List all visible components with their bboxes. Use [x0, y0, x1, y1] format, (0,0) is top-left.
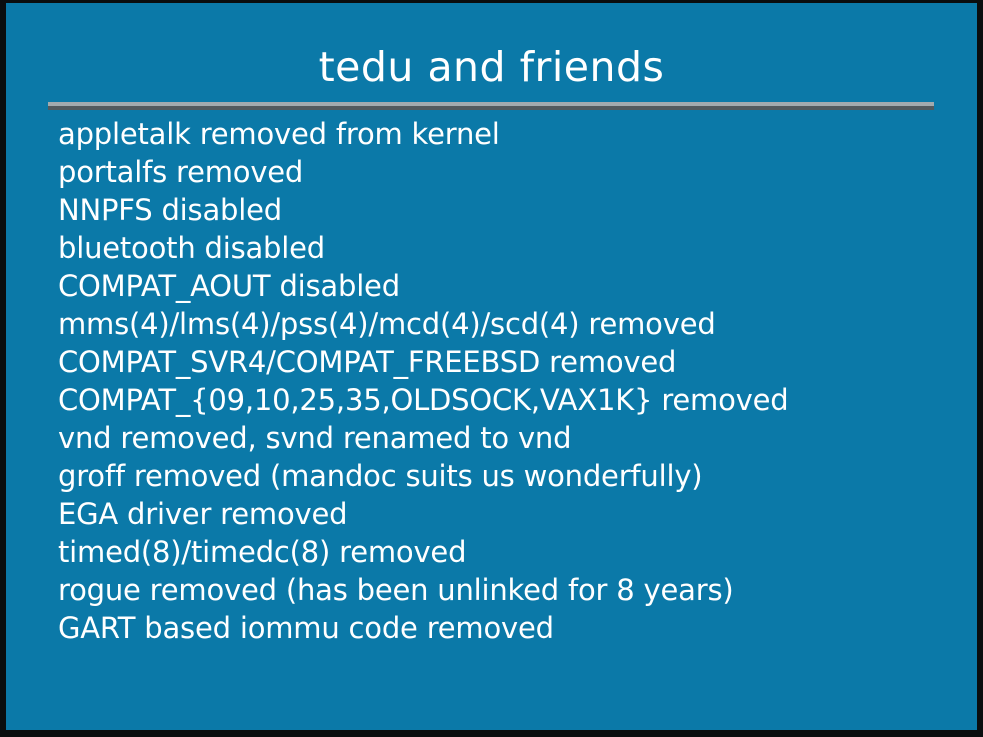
list-item: mms(4)/lms(4)/pss(4)/mcd(4)/scd(4) remov…	[58, 305, 957, 343]
list-item: appletalk removed from kernel	[58, 115, 957, 153]
list-item: COMPAT_SVR4/COMPAT_FREEBSD removed	[58, 343, 957, 381]
title-divider-rule	[48, 102, 934, 110]
list-item: rogue removed (has been unlinked for 8 y…	[58, 571, 957, 609]
presentation-slide: tedu and friends appletalk removed from …	[0, 0, 983, 737]
list-item: GART based iommu code removed	[58, 609, 957, 647]
list-item: timed(8)/timedc(8) removed	[58, 533, 957, 571]
list-item: portalfs removed	[58, 153, 957, 191]
list-item: COMPAT_{09,10,25,35,OLDSOCK,VAX1K} remov…	[58, 381, 957, 419]
list-item: EGA driver removed	[58, 495, 957, 533]
list-item: vnd removed, svnd renamed to vnd	[58, 419, 957, 457]
list-item: COMPAT_AOUT disabled	[58, 267, 957, 305]
list-item: groff removed (mandoc suits us wonderful…	[58, 457, 957, 495]
slide-bullet-list: appletalk removed from kernel portalfs r…	[58, 115, 957, 647]
list-item: NNPFS disabled	[58, 191, 957, 229]
list-item: bluetooth disabled	[58, 229, 957, 267]
slide-title: tedu and friends	[6, 47, 977, 88]
title-divider-shadow	[48, 106, 934, 110]
